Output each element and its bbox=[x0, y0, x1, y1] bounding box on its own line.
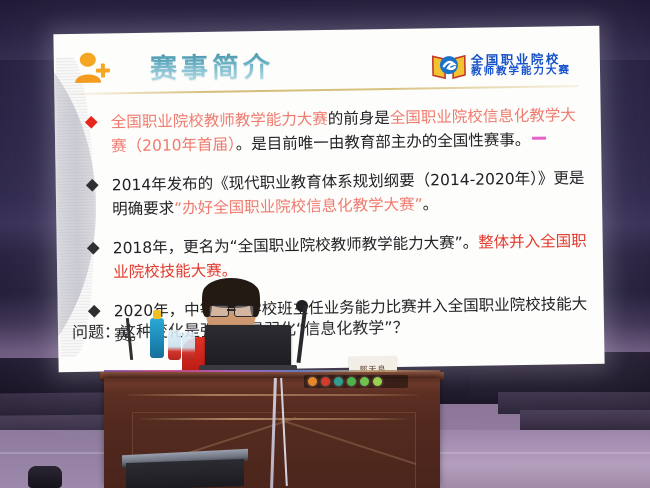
podium-shelf-front bbox=[126, 459, 244, 488]
list-item: 2018年，更名为“全国职业院校教师教学能力大赛”。整体并入全国职业院校技能大赛… bbox=[83, 230, 594, 285]
bullet-text-3: 2018年，更名为“全国职业院校教师教学能力大赛”。整体并入全国职业院校技能大赛… bbox=[113, 232, 587, 281]
podium-button-4[interactable] bbox=[347, 377, 356, 386]
list-item: 全国职业院校教师教学能力大赛的前身是全国职业院校信息化教学大赛（2010年首届）… bbox=[81, 104, 592, 159]
glasses-icon bbox=[209, 305, 254, 315]
open-book-with-e-emblem-icon bbox=[432, 52, 466, 81]
competition-logo: 全国职业院校 教师教学能力大赛 bbox=[432, 46, 593, 85]
diamond-bullet-icon bbox=[85, 116, 98, 129]
bullet-2-seg-2: “办好全国职业院校信息化教学大赛” bbox=[174, 195, 423, 217]
bullet-2-seg-3: 。 bbox=[423, 195, 439, 213]
bullet-3-seg-1: 2018年，更名为“全国职业院校教师教学能力大赛”。 bbox=[113, 234, 479, 258]
stage-step-lower-right bbox=[520, 410, 650, 430]
laptop-screen bbox=[205, 325, 291, 367]
logo-line-2: 教师教学能力大赛 bbox=[471, 65, 571, 78]
podium-button-3[interactable] bbox=[334, 377, 343, 386]
bullet-text-1: 全国职业院校教师教学能力大赛的前身是全国职业院校信息化教学大赛（2010年首届）… bbox=[111, 106, 576, 155]
water-bottle-blue bbox=[150, 310, 164, 358]
pink-underline-mark bbox=[532, 136, 546, 139]
projection-screen: 赛事简介 全国职业院校 教师教学能力大赛 bbox=[53, 26, 604, 373]
lecture-photo: 赛事简介 全国职业院校 教师教学能力大赛 bbox=[0, 0, 650, 488]
podium-control-buttons[interactable] bbox=[304, 375, 408, 388]
page-title: 赛事简介 bbox=[150, 45, 275, 86]
podium-button-2[interactable] bbox=[321, 377, 330, 386]
bullet-text-2: 2014年发布的《现代职业教育体系规划纲要（2014-2020年）》更是明确要求… bbox=[112, 169, 585, 218]
water-bottle-clear-1 bbox=[168, 330, 181, 360]
diamond-bullet-icon bbox=[88, 305, 101, 318]
podium-button-6[interactable] bbox=[373, 377, 382, 386]
bag-on-floor bbox=[28, 466, 62, 488]
diamond-bullet-icon bbox=[86, 179, 99, 192]
bullet-1-seg-4: 。是目前唯一由教育部主办的全国性赛事。 bbox=[236, 130, 531, 153]
list-item: 2014年发布的《现代职业教育体系规划纲要（2014-2020年）》更是明确要求… bbox=[82, 167, 593, 222]
bullet-1-seg-2: 的前身是 bbox=[328, 109, 390, 128]
podium-button-1[interactable] bbox=[308, 377, 317, 386]
diamond-bullet-icon bbox=[87, 242, 100, 255]
bullet-1-seg-1: 全国职业院校教师教学能力大赛 bbox=[111, 110, 328, 131]
user-plus-icon bbox=[72, 51, 113, 86]
water-bottle-clear-2 bbox=[182, 332, 195, 360]
podium-button-5[interactable] bbox=[360, 377, 369, 386]
